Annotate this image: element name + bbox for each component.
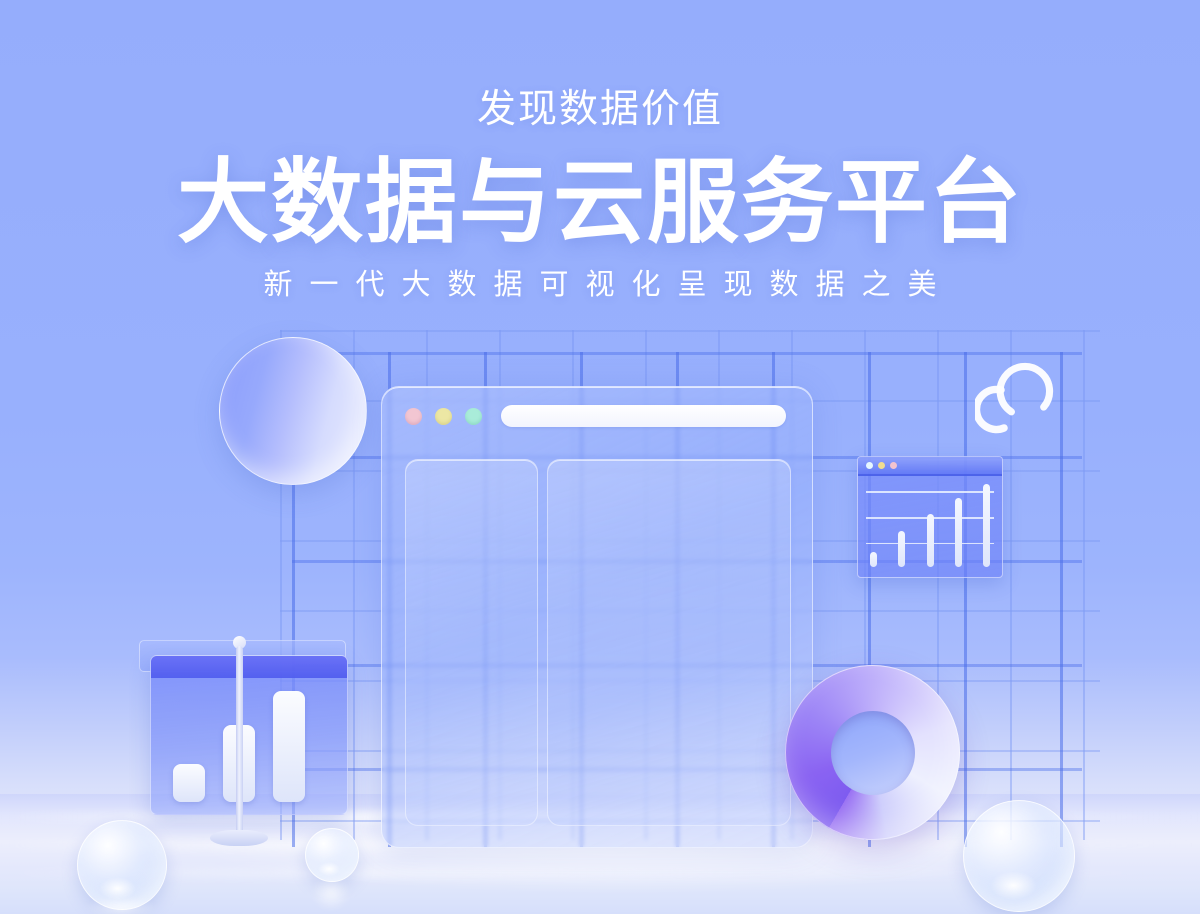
close-dot[interactable] [866, 462, 873, 469]
hero-text-block: 发现数据价值 大数据与云服务平台 新一代大数据可视化呈现数据之美 [0, 0, 1200, 300]
donut-rim [785, 665, 960, 840]
mini-chart-plot [866, 481, 994, 567]
page-title: 大数据与云服务平台 [0, 157, 1200, 249]
stand-pole [236, 646, 243, 834]
browser-titlebar [382, 387, 812, 445]
bar [955, 498, 962, 567]
sidebar-panel[interactable] [405, 459, 538, 826]
main-panel[interactable] [547, 459, 791, 826]
glass-sphere-center [305, 828, 359, 882]
cloud-icon [975, 362, 1060, 434]
mini-chart-window[interactable] [857, 456, 1003, 578]
sphere-reflection [86, 896, 156, 914]
subtitle-text: 新一代大数据可视化呈现数据之美 [0, 271, 1200, 300]
address-bar-input[interactable] [501, 405, 786, 427]
minimize-dot[interactable] [435, 408, 452, 425]
eyebrow-text: 发现数据价值 [0, 90, 1200, 129]
bar-card-header [151, 656, 347, 678]
glass-disc [219, 337, 367, 485]
mini-chart-bars [870, 481, 990, 567]
bar [870, 552, 877, 567]
glass-browser-window[interactable] [381, 386, 813, 848]
bar [927, 514, 934, 567]
bar-chart-bars [173, 686, 331, 802]
bar [173, 764, 205, 802]
mini-chart-titlebar [858, 457, 1002, 476]
donut-chart-torus [785, 665, 960, 840]
glass-sphere-right [963, 800, 1075, 912]
monitor-stand [232, 636, 246, 846]
stand-base [210, 830, 268, 846]
hero-banner: 发现数据价值 大数据与云服务平台 新一代大数据可视化呈现数据之美 [0, 0, 1200, 914]
bar-chart-card[interactable] [150, 655, 348, 815]
bar [273, 691, 305, 802]
sphere-reflection [312, 876, 350, 910]
maximize-dot[interactable] [890, 462, 897, 469]
bar [983, 484, 990, 567]
minimize-dot[interactable] [878, 462, 885, 469]
bar [898, 531, 905, 567]
close-dot[interactable] [405, 408, 422, 425]
maximize-dot[interactable] [465, 408, 482, 425]
